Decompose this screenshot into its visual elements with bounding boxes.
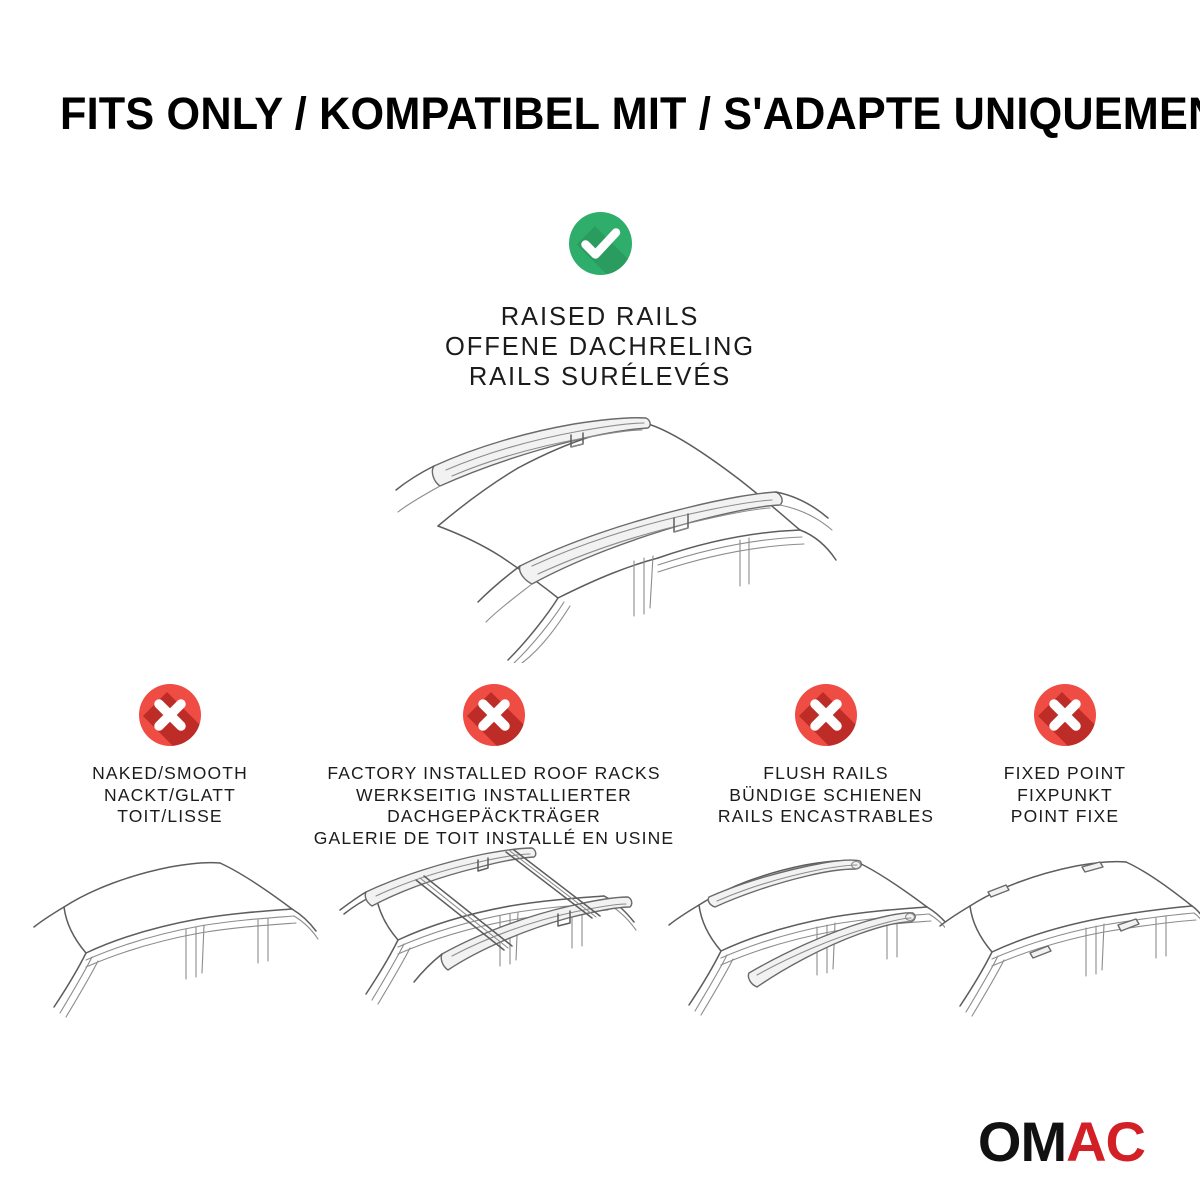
option-label-fr: RAILS ENCASTRABLES [700, 806, 952, 828]
compatible-label-en: RAISED RAILS [300, 302, 900, 332]
option-flush-rails: FLUSH RAILS BÜNDIGE SCHIENEN RAILS ENCAS… [700, 684, 952, 828]
x-circle-icon [139, 684, 201, 746]
omac-logo: OMAC [978, 1114, 1145, 1170]
infographic-page: FITS ONLY / KOMPATIBEL MIT / S'ADAPTE UN… [0, 0, 1200, 1200]
check-circle-icon [569, 212, 632, 275]
x-mark-glyph [463, 684, 525, 746]
option-label-en: NAKED/SMOOTH [45, 763, 295, 785]
car-roof-naked-smooth-illustration [20, 845, 320, 1045]
option-label-fr: POINT FIXE [985, 806, 1145, 828]
compatible-label-de: OFFENE DACHRELING [300, 332, 900, 362]
compatible-label-fr: RAILS SURÉLEVÉS [300, 362, 900, 392]
option-label-fr: TOIT/LISSE [45, 806, 295, 828]
x-circle-icon [463, 684, 525, 746]
option-label-de: NACKT/GLATT [45, 785, 295, 807]
option-label-en: FIXED POINT [985, 763, 1145, 785]
option-label-en: FACTORY INSTALLED ROOF RACKS [300, 763, 688, 785]
logo-text-red: AC [1066, 1110, 1145, 1173]
x-circle-icon [795, 684, 857, 746]
option-label-group: FIXED POINT FIXPUNKT POINT FIXE [985, 763, 1145, 828]
option-factory-roof-racks: FACTORY INSTALLED ROOF RACKS WERKSEITIG … [300, 684, 688, 849]
option-label-en: FLUSH RAILS [700, 763, 952, 785]
car-roof-flush-rails-illustration [655, 845, 945, 1045]
x-circle-icon [1034, 684, 1096, 746]
compatible-label-group: RAISED RAILS OFFENE DACHRELING RAILS SUR… [300, 302, 900, 392]
option-label-de2: DACHGEPÄCKTRÄGER [300, 806, 688, 828]
option-label-group: FACTORY INSTALLED ROOF RACKS WERKSEITIG … [300, 763, 688, 849]
option-label-de: FIXPUNKT [985, 785, 1145, 807]
x-mark-glyph [139, 684, 201, 746]
option-fixed-point: FIXED POINT FIXPUNKT POINT FIXE [985, 684, 1145, 828]
option-label-group: NAKED/SMOOTH NACKT/GLATT TOIT/LISSE [45, 763, 295, 828]
car-roof-factory-racks-illustration [320, 838, 650, 1048]
option-label-group: FLUSH RAILS BÜNDIGE SCHIENEN RAILS ENCAS… [700, 763, 952, 828]
option-label-de: BÜNDIGE SCHIENEN [700, 785, 952, 807]
logo-text-dark: OM [978, 1110, 1066, 1173]
car-roof-fixed-point-illustration [930, 848, 1200, 1046]
x-mark-glyph [1034, 684, 1096, 746]
option-label-de: WERKSEITIG INSTALLIERTER [300, 785, 688, 807]
car-roof-raised-rails-illustration [368, 408, 838, 663]
option-naked-smooth: NAKED/SMOOTH NACKT/GLATT TOIT/LISSE [45, 684, 295, 828]
x-mark-glyph [795, 684, 857, 746]
check-mark-glyph [569, 212, 632, 275]
page-title: FITS ONLY / KOMPATIBEL MIT / S'ADAPTE UN… [60, 86, 1097, 142]
